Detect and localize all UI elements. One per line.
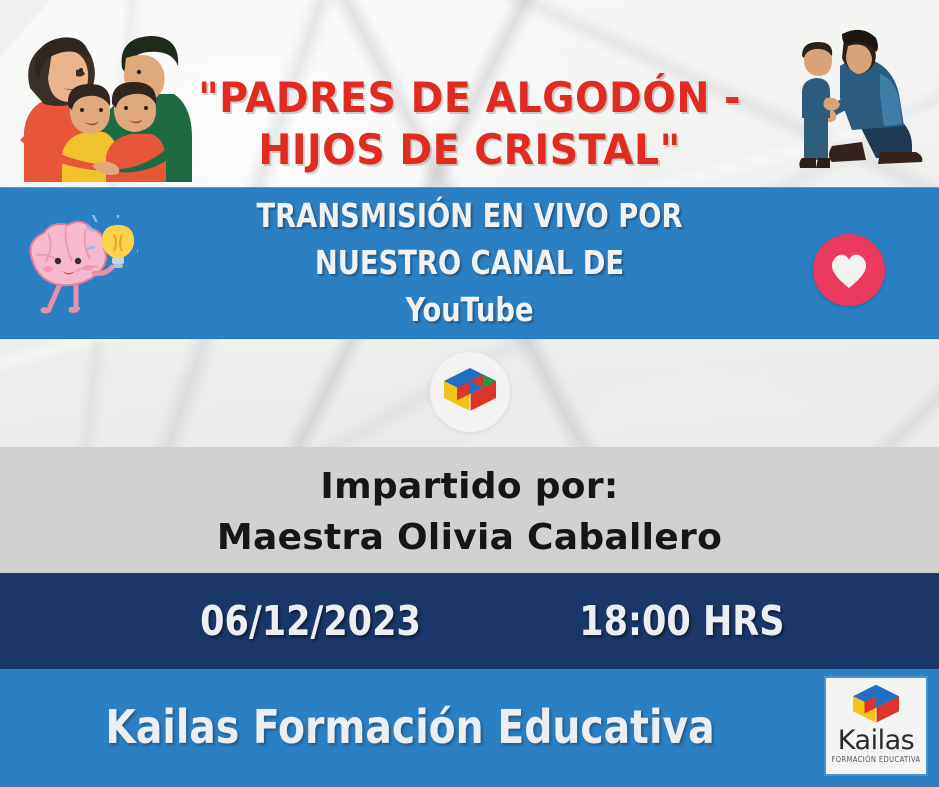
event-time: 18:00 HRS (579, 597, 784, 645)
speaker-name: Maestra Olivia Caballero (0, 512, 939, 564)
headline-line-1: "PADRES DE ALGODÓN - (28, 72, 911, 124)
kailas-wordmark: Kailas (838, 727, 914, 755)
organization-name: Kailas Formación Educativa (21, 700, 800, 754)
speaker-label: Impartido por: (0, 462, 939, 512)
event-date: 06/12/2023 (200, 597, 421, 645)
kailas-logo-badge (430, 352, 510, 432)
kailas-footer-logo: Kailas FORMACIÓN EDUCATIVA (824, 676, 928, 776)
kailas-isometric-box-logo-small (845, 683, 907, 729)
kailas-tagline: FORMACIÓN EDUCATIVA (832, 755, 921, 764)
heart-badge-icon (813, 234, 885, 306)
schedule-info: 06/12/2023 18:00 HRS (23, 597, 915, 649)
page-title: "PADRES DE ALGODÓN - HIJOS DE CRISTAL" (28, 72, 911, 176)
banner-line-3-youtube: YouTube (38, 286, 902, 333)
kailas-isometric-box-logo (441, 366, 499, 418)
banner-line-2: NUESTRO CANAL DE (38, 239, 902, 286)
livestream-banner-text: TRANSMISIÓN EN VIVO POR NUESTRO CANAL DE… (38, 192, 902, 333)
speaker-info: Impartido por: Maestra Olivia Caballero (0, 462, 939, 564)
event-flyer: "PADRES DE ALGODÓN - HIJOS DE CRISTAL" (0, 0, 939, 787)
banner-line-1: TRANSMISIÓN EN VIVO POR (38, 192, 902, 239)
heart-icon (829, 252, 869, 289)
headline-line-2: HIJOS DE CRISTAL" (28, 124, 911, 176)
